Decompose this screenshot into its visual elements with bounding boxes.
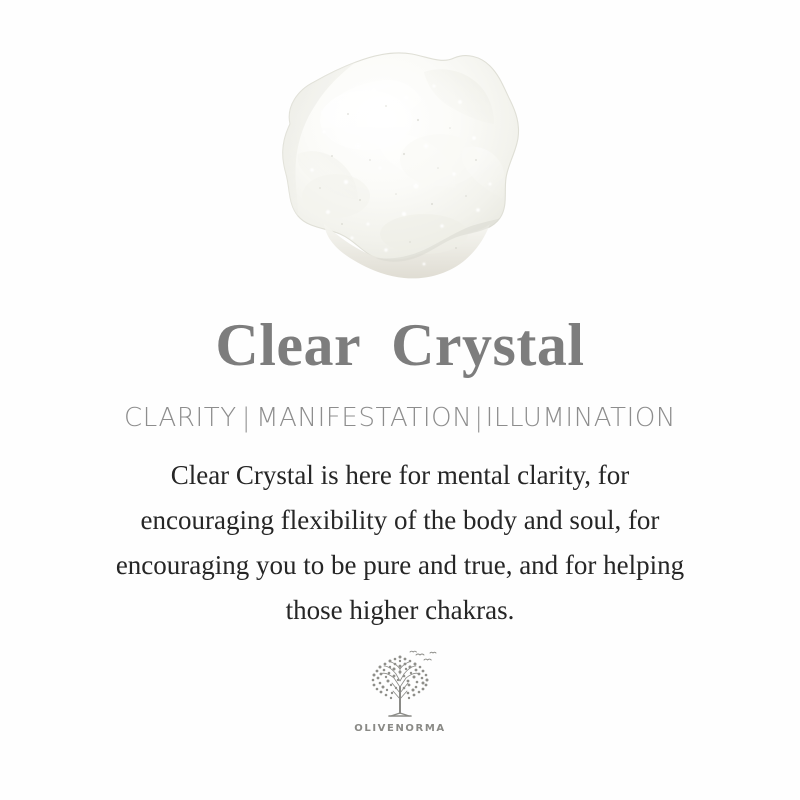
keyword-manifestation: MANIFESTATION <box>256 403 472 433</box>
keyword-separator: | <box>472 403 485 433</box>
brand-wordmark: OLIVENORMA <box>354 724 445 734</box>
raw-crystal-stone-icon <box>228 28 548 313</box>
description-line: Clear Crystal is here for mental clarity… <box>50 453 750 498</box>
description-line: encouraging flexibility of the body and … <box>50 498 750 543</box>
keyword-illumination: ILLUMINATION <box>486 403 676 433</box>
product-info-card: Clear Crystal CLARITY|MANIFESTATION|ILLU… <box>0 0 800 800</box>
product-image-area <box>0 0 800 315</box>
brand-logo: OLIVENORMA <box>354 647 445 734</box>
birds-icon <box>410 651 436 660</box>
keyword-clarity: CLARITY <box>124 403 237 433</box>
page-title: Clear Crystal <box>215 315 584 375</box>
keyword-separator: | <box>237 403 256 433</box>
description-line: encouraging you to be pure and true, and… <box>50 543 750 588</box>
keyword-list: CLARITY|MANIFESTATION|ILLUMINATION <box>124 405 676 431</box>
product-description: Clear Crystal is here for mental clarity… <box>50 453 750 633</box>
description-line: those higher chakras. <box>50 588 750 633</box>
tree-of-life-icon <box>360 647 440 723</box>
